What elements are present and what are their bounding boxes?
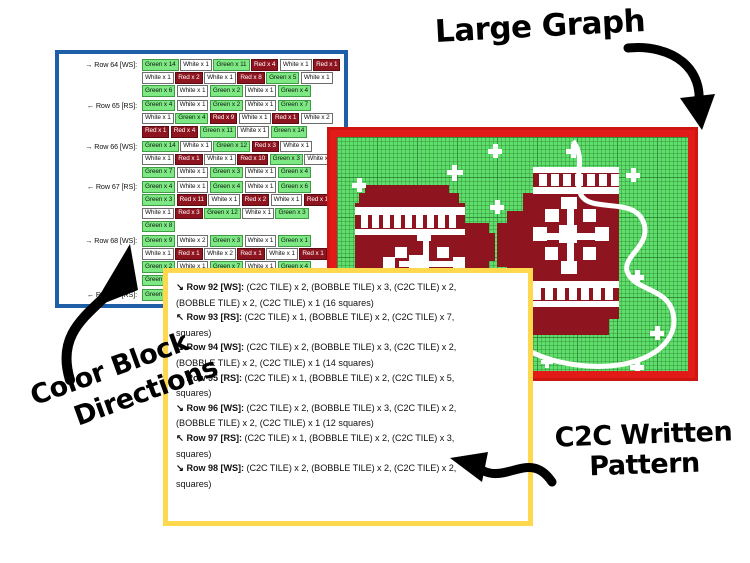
color-swatch-white: White x 1 <box>280 141 312 153</box>
color-swatch-green: Green x 3 <box>275 208 308 220</box>
color-block-row-label: ← Row 67 [RS]: <box>59 181 142 191</box>
color-swatch-green: Green x 14 <box>142 141 179 153</box>
c2c-row-continuation: squares) <box>176 386 520 401</box>
color-swatch-green: Green x 4 <box>142 100 175 112</box>
color-block-swatch-group: Green x 4White x 1Green x 2White x 1Gree… <box>142 100 341 138</box>
c2c-row-continuation: (BOBBLE TILE) x 2, (C2C TILE) x 1 (12 sq… <box>176 416 520 431</box>
color-swatch-green: Green x 4 <box>142 181 175 193</box>
arrow-down-right-icon: ↘ <box>176 403 187 414</box>
poster-stage: → Row 64 [WS]:Green x 14White x 1Green x… <box>0 0 750 563</box>
color-swatch-white: White x 1 <box>280 59 312 71</box>
c2c-row-instructions: (C2C TILE) x 2, (BOBBLE TILE) x 3, (C2C … <box>244 342 456 352</box>
arrow-down-right-icon: ↘ <box>176 463 187 474</box>
color-swatch-red: Red x 1 <box>175 248 202 260</box>
color-swatch-green: Green x 12 <box>204 208 241 220</box>
color-swatch-white: White x 1 <box>142 113 174 125</box>
color-swatch-white: White x 2 <box>204 248 236 260</box>
color-swatch-green: Green x 14 <box>271 126 308 138</box>
c2c-pattern-line: ↘ Row 94 [WS]: (C2C TILE) x 2, (BOBBLE T… <box>176 340 520 356</box>
color-swatch-green: Green x 3 <box>210 167 243 179</box>
c2c-written-pattern-panel: ↘ Row 92 [WS]: (C2C TILE) x 2, (BOBBLE T… <box>163 268 533 526</box>
c2c-row-instructions: (C2C TILE) x 1, (BOBBLE TILE) x 2, (C2C … <box>242 373 454 383</box>
color-swatch-green: Green x 3 <box>142 194 175 206</box>
arrow-up-left-icon: ↖ <box>176 433 187 444</box>
color-swatch-white: White x 2 <box>177 235 209 247</box>
color-swatch-green: Green x 14 <box>142 59 179 71</box>
c2c-row-instructions: (C2C TILE) x 2, (BOBBLE TILE) x 3, (C2C … <box>244 282 456 292</box>
arrow-down-right-icon: ↘ <box>176 282 187 293</box>
annotation-c2c-line1: C2C Written <box>554 416 733 453</box>
color-swatch-red: Red x 8 <box>237 72 264 84</box>
color-block-row: → Row 66 [WS]:Green x 14White x 1Green x… <box>59 141 341 179</box>
color-swatch-red: Red x 1 <box>237 248 264 260</box>
color-swatch-white: White x 1 <box>204 72 236 84</box>
c2c-pattern-line: ↖ Row 97 [RS]: (C2C TILE) x 1, (BOBBLE T… <box>176 431 520 447</box>
color-swatch-white: White x 1 <box>204 154 236 166</box>
color-swatch-green: Green x 3 <box>210 235 243 247</box>
color-block-swatch-group: Green x 14White x 1Green x 11Red x 4Whit… <box>142 59 341 97</box>
c2c-row-number: Row 94 [WS]: <box>187 342 245 352</box>
c2c-row-continuation: (BOBBLE TILE) x 2, (C2C TILE) x 1 (16 sq… <box>176 296 520 311</box>
color-block-row: ← Row 67 [RS]:Green x 4White x 1Green x … <box>59 181 341 232</box>
c2c-row-instructions: (C2C TILE) x 1, (BOBBLE TILE) x 2, (C2C … <box>242 433 454 443</box>
color-swatch-white: White x 2 <box>301 113 333 125</box>
color-swatch-green: Green x 2 <box>210 100 243 112</box>
color-swatch-white: White x 1 <box>208 194 240 206</box>
color-swatch-green: Green x 4 <box>210 181 243 193</box>
color-swatch-green: Green x 6 <box>142 85 175 97</box>
color-swatch-white: White x 1 <box>245 85 277 97</box>
c2c-row-instructions: (C2C TILE) x 2, (BOBBLE TILE) x 2, (C2C … <box>244 463 456 473</box>
color-swatch-red: Red x 3 <box>175 208 202 220</box>
color-swatch-green: Green x 4 <box>278 167 311 179</box>
arrow-up-left-icon: ↖ <box>176 373 187 384</box>
annotation-large-graph: Large Graph <box>434 3 646 50</box>
c2c-pattern-line: ↖ Row 93 [RS]: (C2C TILE) x 1, (BOBBLE T… <box>176 310 520 326</box>
color-swatch-red: Red x 1 <box>175 154 202 166</box>
c2c-pattern-line: ↘ Row 92 [WS]: (C2C TILE) x 2, (BOBBLE T… <box>176 280 520 296</box>
c2c-row-continuation: (BOBBLE TILE) x 2, (C2C TILE) x 1 (14 sq… <box>176 356 520 371</box>
color-swatch-white: White x 1 <box>271 194 303 206</box>
color-swatch-red: Red x 2 <box>175 72 202 84</box>
c2c-row-instructions: (C2C TILE) x 1, (BOBBLE TILE) x 2, (C2C … <box>242 312 454 322</box>
color-block-row: ← Row 65 [RS]:Green x 4White x 1Green x … <box>59 100 341 138</box>
c2c-row-continuation: squares) <box>176 447 520 462</box>
color-swatch-white: White x 1 <box>245 181 277 193</box>
color-swatch-white: White x 1 <box>245 100 277 112</box>
color-swatch-red: Red x 11 <box>177 194 207 206</box>
color-swatch-green: Green x 4 <box>175 113 208 125</box>
color-swatch-white: White x 1 <box>245 167 277 179</box>
color-swatch-white: White x 1 <box>177 100 209 112</box>
color-swatch-white: White x 1 <box>142 208 174 220</box>
color-swatch-red: Red x 3 <box>252 141 279 153</box>
color-swatch-white: White x 1 <box>242 208 274 220</box>
annotation-c2c-written-pattern: C2C Written Pattern <box>543 417 745 484</box>
color-swatch-white: White x 1 <box>142 72 174 84</box>
c2c-pattern-line: ↘ Row 98 [WS]: (C2C TILE) x 2, (BOBBLE T… <box>176 461 520 477</box>
color-swatch-white: White x 1 <box>301 72 333 84</box>
color-swatch-white: White x 1 <box>239 113 271 125</box>
color-swatch-white: White x 1 <box>142 248 174 260</box>
c2c-row-number: Row 98 [WS]: <box>187 463 245 473</box>
c2c-row-number: Row 93 [RS]: <box>187 312 242 322</box>
color-swatch-red: Red x 1 <box>272 113 299 125</box>
color-swatch-green: Green x 12 <box>213 141 250 153</box>
c2c-pattern-lines: ↘ Row 92 [WS]: (C2C TILE) x 2, (BOBBLE T… <box>176 280 520 491</box>
c2c-row-instructions: (C2C TILE) x 2, (BOBBLE TILE) x 3, (C2C … <box>244 403 456 413</box>
color-swatch-white: White x 1 <box>142 154 174 166</box>
color-block-row-label: → Row 66 [WS]: <box>59 141 142 151</box>
color-block-row-label: → Row 68 [WS]: <box>59 235 142 245</box>
color-swatch-green: Green x 4 <box>278 85 311 97</box>
color-swatch-green: Green x 1 <box>278 235 311 247</box>
color-block-row-label: → Row 64 [WS]: <box>59 59 142 69</box>
c2c-row-number: Row 96 [WS]: <box>187 403 245 413</box>
color-swatch-red: Red x 4 <box>171 126 198 138</box>
color-swatch-green: Green x 5 <box>266 72 299 84</box>
arrow-down-right-icon: ↘ <box>176 342 187 353</box>
c2c-row-number: Row 97 [RS]: <box>187 433 242 443</box>
color-swatch-green: Green x 11 <box>213 59 249 71</box>
color-swatch-green: Green x 7 <box>278 100 311 112</box>
color-swatch-green: Green x 6 <box>278 181 311 193</box>
color-block-swatch-group: Green x 4White x 1Green x 4White x 1Gree… <box>142 181 341 232</box>
color-swatch-green: Green x 11 <box>200 126 236 138</box>
color-swatch-white: White x 1 <box>177 181 209 193</box>
c2c-pattern-line: ↖ Row 95 [RS]: (C2C TILE) x 1, (BOBBLE T… <box>176 371 520 387</box>
color-swatch-red: Red x 1 <box>299 248 326 260</box>
color-swatch-white: White x 1 <box>180 59 212 71</box>
color-swatch-red: Red x 1 <box>142 126 169 138</box>
arrow-up-left-icon: ↖ <box>176 312 187 323</box>
color-swatch-red: Red x 9 <box>210 113 237 125</box>
color-swatch-white: White x 1 <box>177 85 209 97</box>
color-swatch-red: Red x 2 <box>242 194 269 206</box>
c2c-row-number: Row 92 [WS]: <box>187 282 245 292</box>
c2c-row-continuation: squares) <box>176 326 520 341</box>
annotation-c2c-line2: Pattern <box>589 448 700 483</box>
c2c-pattern-line: ↘ Row 96 [WS]: (C2C TILE) x 2, (BOBBLE T… <box>176 401 520 417</box>
color-swatch-red: Red x 10 <box>237 154 268 166</box>
color-swatch-white: White x 1 <box>245 235 277 247</box>
color-block-swatch-group: Green x 14White x 1Green x 12Red x 3Whit… <box>142 141 341 179</box>
color-swatch-green: Green x 9 <box>142 235 175 247</box>
c2c-row-continuation: squares) <box>176 477 520 492</box>
color-block-row-label: ← Row 65 [RS]: <box>59 100 142 110</box>
color-swatch-green: Green x 7 <box>142 167 175 179</box>
color-swatch-white: White x 1 <box>177 167 209 179</box>
color-block-row-label: ← Row 69 [RS]: <box>59 289 142 299</box>
color-swatch-red: Red x 1 <box>313 59 340 71</box>
c2c-row-number: Row 95 [RS]: <box>187 373 242 383</box>
color-swatch-green: Green x 2 <box>210 85 243 97</box>
color-swatch-green: Green x 3 <box>270 154 303 166</box>
color-swatch-white: White x 1 <box>266 248 298 260</box>
color-block-row: → Row 64 [WS]:Green x 14White x 1Green x… <box>59 59 341 97</box>
color-swatch-green: Green x 8 <box>142 221 175 233</box>
color-swatch-white: White x 1 <box>237 126 269 138</box>
color-swatch-white: White x 1 <box>180 141 212 153</box>
color-swatch-red: Red x 4 <box>251 59 278 71</box>
